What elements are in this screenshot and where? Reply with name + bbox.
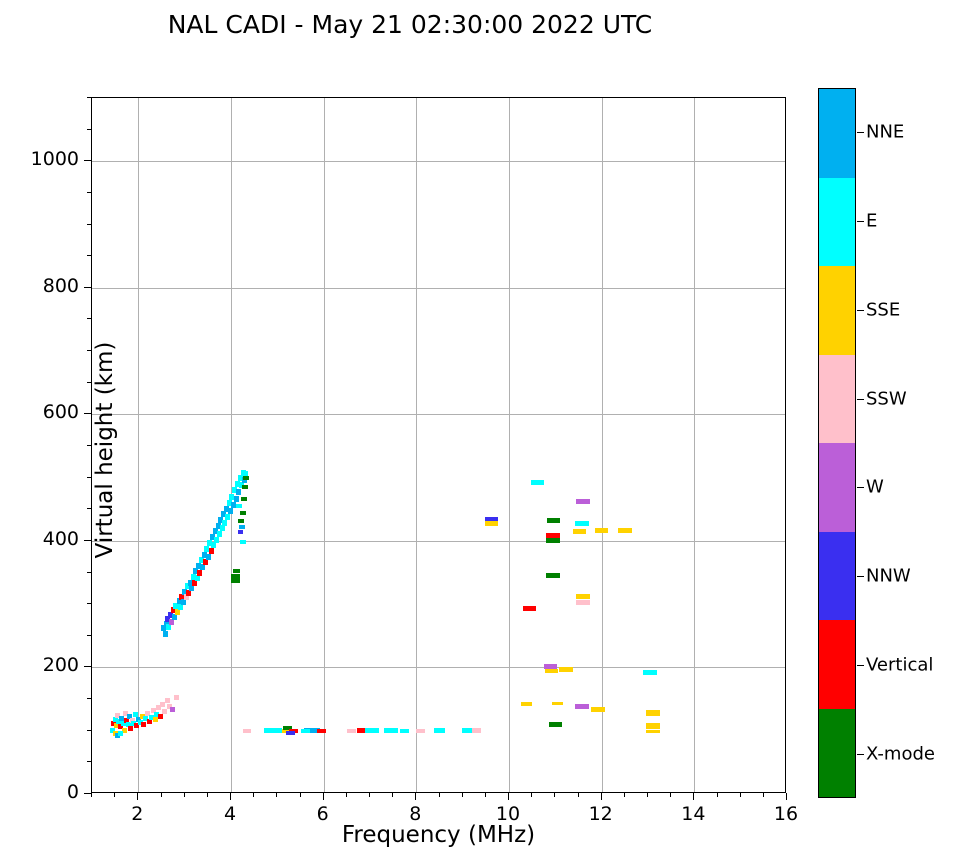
echo-point	[618, 528, 632, 533]
echo-point	[547, 518, 560, 523]
y-tick-minor	[87, 730, 91, 731]
x-tick-minor	[276, 793, 277, 797]
echo-point	[546, 538, 560, 543]
gridline-vertical	[694, 98, 695, 792]
colorbar-band-vertical	[819, 620, 855, 709]
echo-point	[174, 695, 179, 700]
echo-point	[416, 729, 425, 733]
echo-point	[225, 514, 230, 520]
echo-point	[243, 476, 249, 480]
echo-point	[575, 521, 589, 526]
y-tick-minor	[87, 445, 91, 446]
colorbar-tick	[857, 132, 864, 133]
colorbar-tick	[857, 754, 864, 755]
gridline-horizontal	[92, 288, 785, 289]
echo-point	[384, 728, 398, 733]
echo-point	[217, 531, 222, 537]
y-tick-minor	[87, 635, 91, 636]
echo-point	[472, 728, 481, 733]
colorbar-tick	[857, 399, 864, 400]
echo-point	[549, 722, 562, 727]
echo-point	[153, 717, 158, 722]
gridline-horizontal	[92, 414, 785, 415]
y-tick-major	[84, 287, 91, 288]
y-tick-major	[84, 160, 91, 161]
x-tick-minor	[369, 793, 370, 797]
y-tick-minor	[87, 224, 91, 225]
echo-point	[576, 594, 590, 599]
x-tick-minor	[207, 793, 208, 797]
x-tick-major	[137, 793, 138, 800]
colorbar-label-w: W	[866, 477, 884, 498]
echo-point	[236, 489, 241, 495]
echo-point	[365, 728, 379, 733]
x-tick-major	[508, 793, 509, 800]
x-tick-minor	[647, 793, 648, 797]
echo-point	[206, 554, 211, 560]
echo-point	[240, 540, 246, 544]
colorbar-label-nnw: NNW	[866, 566, 911, 587]
echo-point	[545, 669, 558, 673]
echo-point	[211, 542, 216, 548]
echo-point	[575, 704, 589, 709]
echo-point	[643, 670, 657, 675]
echo-point	[646, 710, 660, 716]
gridline-vertical	[138, 98, 139, 792]
x-tick-minor	[670, 793, 671, 797]
echo-point	[301, 729, 310, 733]
gridline-vertical	[324, 98, 325, 792]
echo-point	[400, 729, 409, 733]
x-tick-minor	[346, 793, 347, 797]
echo-point	[220, 525, 225, 531]
echo-point	[158, 714, 163, 719]
y-tick-minor	[87, 508, 91, 509]
echo-point	[552, 702, 563, 705]
x-tick-minor	[161, 793, 162, 797]
y-tick-minor	[87, 192, 91, 193]
echo-point	[243, 729, 251, 733]
x-axis-label: Frequency (MHz)	[91, 822, 786, 848]
echo-point	[203, 559, 208, 565]
echo-point	[264, 728, 282, 733]
echo-point	[238, 519, 244, 523]
colorbar-band-w	[819, 443, 855, 532]
echo-point	[241, 497, 247, 501]
echo-point	[317, 729, 326, 733]
x-tick-minor	[531, 793, 532, 797]
echo-point	[546, 573, 560, 578]
colorbar-label-e: E	[866, 211, 877, 232]
y-tick-minor	[87, 572, 91, 573]
colorbar-band-nnw	[819, 532, 855, 621]
ionogram-figure: NAL CADI - May 21 02:30:00 2022 UTC 2468…	[0, 0, 958, 857]
echo-point	[573, 529, 586, 534]
y-tick-label: 0	[9, 781, 79, 803]
echo-point	[228, 508, 233, 514]
colorbar-label-vertical: Vertical	[866, 655, 933, 676]
y-tick-minor	[87, 382, 91, 383]
echo-point	[170, 707, 175, 712]
x-tick-minor	[624, 793, 625, 797]
echo-point	[240, 511, 246, 515]
y-tick-label: 600	[9, 401, 79, 423]
y-tick-minor	[87, 761, 91, 762]
echo-point	[238, 530, 243, 534]
y-tick-minor	[87, 318, 91, 319]
y-tick-minor	[87, 350, 91, 351]
echo-point	[209, 548, 214, 554]
colorbar-label-x-mode: X-mode	[866, 744, 935, 765]
echo-point	[118, 731, 123, 736]
x-tick-minor	[253, 793, 254, 797]
colorbar-band-ssw	[819, 355, 855, 444]
gridline-vertical	[509, 98, 510, 792]
echo-point	[523, 606, 536, 611]
echo-point	[286, 731, 295, 735]
echo-point	[163, 631, 168, 637]
echo-point	[231, 574, 240, 583]
colorbar-tick	[857, 221, 864, 222]
gridline-horizontal	[92, 541, 785, 542]
colorbar-band-x-mode	[819, 709, 855, 798]
x-tick-major	[415, 793, 416, 800]
echo-point	[434, 728, 445, 733]
y-tick-minor	[87, 255, 91, 256]
echo-point	[141, 722, 146, 727]
colorbar	[818, 88, 856, 798]
echo-point	[239, 525, 245, 529]
x-tick-major	[601, 793, 602, 800]
y-tick-major	[84, 793, 91, 794]
echo-point	[214, 537, 219, 543]
colorbar-tick	[857, 487, 864, 488]
gridline-horizontal	[92, 161, 785, 162]
y-tick-label: 800	[9, 275, 79, 297]
x-tick-minor	[740, 793, 741, 797]
echo-point	[234, 496, 239, 502]
page-title: NAL CADI - May 21 02:30:00 2022 UTC	[0, 10, 820, 39]
echo-point	[576, 499, 590, 504]
echo-point	[559, 667, 573, 672]
colorbar-tick	[857, 576, 864, 577]
gridline-vertical	[602, 98, 603, 792]
x-tick-major	[323, 793, 324, 800]
y-tick-minor	[87, 129, 91, 130]
y-tick-major	[84, 413, 91, 414]
x-tick-major	[230, 793, 231, 800]
gridline-vertical	[231, 98, 232, 792]
colorbar-label-sse: SSE	[866, 300, 900, 321]
echo-point	[646, 730, 660, 733]
plot-area	[91, 97, 786, 793]
echo-point	[147, 719, 152, 724]
echo-point	[195, 575, 200, 581]
y-tick-minor	[87, 97, 91, 98]
y-tick-major	[84, 540, 91, 541]
x-tick-minor	[392, 793, 393, 797]
echo-point	[646, 723, 660, 729]
colorbar-band-sse	[819, 266, 855, 355]
echo-point	[347, 729, 356, 733]
echo-point	[521, 702, 532, 706]
echo-point	[242, 485, 248, 489]
echo-point	[576, 600, 590, 605]
y-tick-minor	[87, 603, 91, 604]
echo-point	[531, 480, 544, 485]
y-tick-label: 400	[9, 528, 79, 550]
y-tick-minor	[87, 698, 91, 699]
echo-point	[233, 569, 240, 573]
x-tick-minor	[717, 793, 718, 797]
x-tick-major	[786, 793, 787, 800]
colorbar-label-nne: NNE	[866, 122, 904, 143]
echo-point	[591, 707, 605, 712]
x-tick-minor	[578, 793, 579, 797]
y-tick-major	[84, 666, 91, 667]
echo-point	[165, 698, 170, 703]
echo-point	[128, 726, 133, 731]
y-tick-label: 200	[9, 654, 79, 676]
x-tick-minor	[554, 793, 555, 797]
y-tick-label: 1000	[9, 148, 79, 170]
echo-point	[162, 709, 167, 714]
echo-point	[231, 502, 236, 508]
y-tick-minor	[87, 477, 91, 478]
colorbar-band-e	[819, 178, 855, 267]
y-axis-label: Virtual height (km)	[92, 102, 118, 798]
echo-point	[222, 520, 227, 526]
echo-point	[236, 504, 242, 508]
x-tick-minor	[439, 793, 440, 797]
x-tick-minor	[462, 793, 463, 797]
gridline-vertical	[416, 98, 417, 792]
x-tick-minor	[300, 793, 301, 797]
colorbar-tick	[857, 310, 864, 311]
x-tick-minor	[184, 793, 185, 797]
echo-point	[595, 528, 608, 533]
x-tick-major	[693, 793, 694, 800]
colorbar-tick	[857, 665, 864, 666]
x-tick-minor	[485, 793, 486, 797]
gridline-horizontal	[92, 667, 785, 668]
colorbar-band-nne	[819, 89, 855, 178]
echo-point	[485, 521, 498, 526]
colorbar-label-ssw: SSW	[866, 389, 907, 410]
x-tick-minor	[763, 793, 764, 797]
